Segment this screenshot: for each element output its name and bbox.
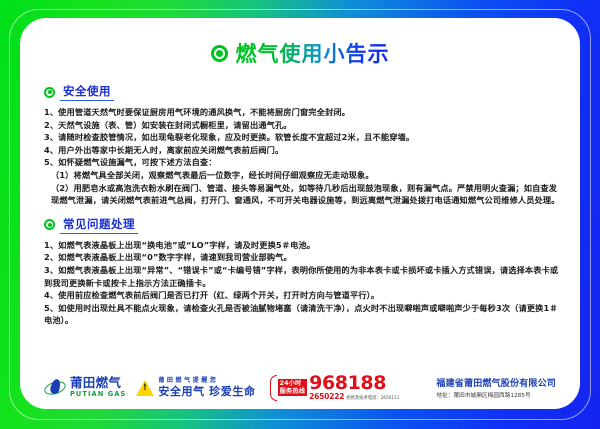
page-title: 燃气使用小告示 (38, 38, 562, 68)
list-item: 4、用户外出等家中长期无人时，离家前应关闭燃气表前后阀门。 (44, 144, 560, 157)
safety-slogan: 莆田燃气提醒您 安全用气 珍爱生命 (136, 378, 255, 397)
section-spacer (38, 207, 562, 210)
poster-frame: 燃气使用小告示 安全使用 1、使用管道天然气时要保证厨房用气环境的通风换气，不能… (0, 0, 600, 429)
target-dot-icon (44, 219, 55, 230)
hotline-tag-line1: 24小时 (280, 380, 306, 387)
section-header-faq: 常见问题处理 (44, 216, 562, 234)
list-item: 3、请随时检查胶管情况，如出现龟裂老化现象，应及时更换。软管长度不宜超过2米，且… (44, 131, 560, 144)
slogan-reminder: 莆田燃气提醒您 (158, 378, 255, 384)
company-address: 地址：莆田市城厢区梅园西路1285号 (436, 391, 556, 399)
bracket-decoration-icon (270, 375, 277, 401)
list-item: 2、如燃气表液晶板上出现“0”数字字样，请速到我司营业部购气。 (44, 251, 560, 264)
target-dot-icon (211, 45, 228, 62)
content-card: 燃气使用小告示 安全使用 1、使用管道天然气时要保证厨房用气环境的通风换气，不能… (20, 18, 580, 409)
list-item: 4、使用前应检查燃气表前后阀门是否已打开（红、绿两个开关，打开时方向与管道平行）… (44, 289, 560, 302)
section-title-safety: 安全使用 (60, 83, 114, 101)
section-body-faq: 1、如燃气表液晶板上出现“换电池”或“LO”字样，请及时更换5＃电池。 2、如燃… (44, 239, 560, 327)
target-dot-icon (44, 87, 55, 98)
section-body-safety: 1、使用管道天然气时要保证厨房用气环境的通风换气，不能将厨房门窗完全封闭。 2、… (44, 106, 560, 207)
section-title-faq: 常见问题处理 (60, 216, 138, 234)
company-info: 福建省莆田燃气股份有限公司 地址：莆田市城厢区梅园西路1285号 (436, 376, 560, 399)
hotline-number: 968188 (309, 374, 399, 392)
warning-triangle-icon (136, 380, 154, 396)
slogan-main: 安全用气 珍爱生命 (158, 386, 255, 397)
water-drop-logo-icon (44, 378, 66, 397)
list-item: 1、使用管道天然气时要保证厨房用气环境的通风换气，不能将厨房门窗完全封闭。 (44, 106, 560, 119)
brand-name-cn: 莆田燃气 (70, 377, 126, 390)
service-hotline: 24小时 服务热线 968188 2650222 抢修及技术电话：2650111 (266, 374, 400, 401)
brand-name-en: PUTIAN GAS (70, 391, 126, 398)
list-item: 5、如怀疑燃气设施漏气，可按下述方法自查： (44, 156, 560, 169)
list-item: 5、如使用时出现灶具不能点火现象，请检查火孔是否被油腻物堵塞（请清洗干净），点火… (44, 302, 560, 327)
hotline-tag: 24小时 服务热线 (278, 379, 308, 397)
company-name: 福建省莆田燃气股份有限公司 (436, 376, 556, 389)
page-title-text: 燃气使用小告示 (236, 38, 390, 68)
list-item: 1、如燃气表液晶板上出现“换电池”或“LO”字样，请及时更换5＃电池。 (44, 239, 560, 252)
hotline-note: 抢修及技术电话：2650111 (346, 395, 399, 401)
brand-logo: 莆田燃气 PUTIAN GAS (44, 377, 126, 398)
list-item: 3、如燃气表液晶板上出现“异常”、“错误卡”或“卡编号错”字样，表明你所使用的为… (44, 264, 560, 289)
hotline-secondary-number: 2650222 (309, 392, 344, 401)
list-item: （1）将燃气具全部关闭，观察燃气表最后一位数字，经长时间仔细观察应无走动现象。 (44, 169, 560, 182)
list-item: 2、天然气设施（表、管）如安装在封闭式橱柜里，请留出通气孔。 (44, 119, 560, 132)
list-item: （2）用肥皂水或高泡洗衣粉水刷在阀门、管道、接头等易漏气处，如等待几秒后出现鼓泡… (44, 182, 560, 207)
hotline-tag-line2: 服务热线 (280, 388, 306, 395)
section-header-safety: 安全使用 (44, 83, 562, 101)
footer-bar: 莆田燃气 PUTIAN GAS 莆田燃气提醒您 安全用气 珍爱生命 24小时 服… (38, 374, 562, 409)
